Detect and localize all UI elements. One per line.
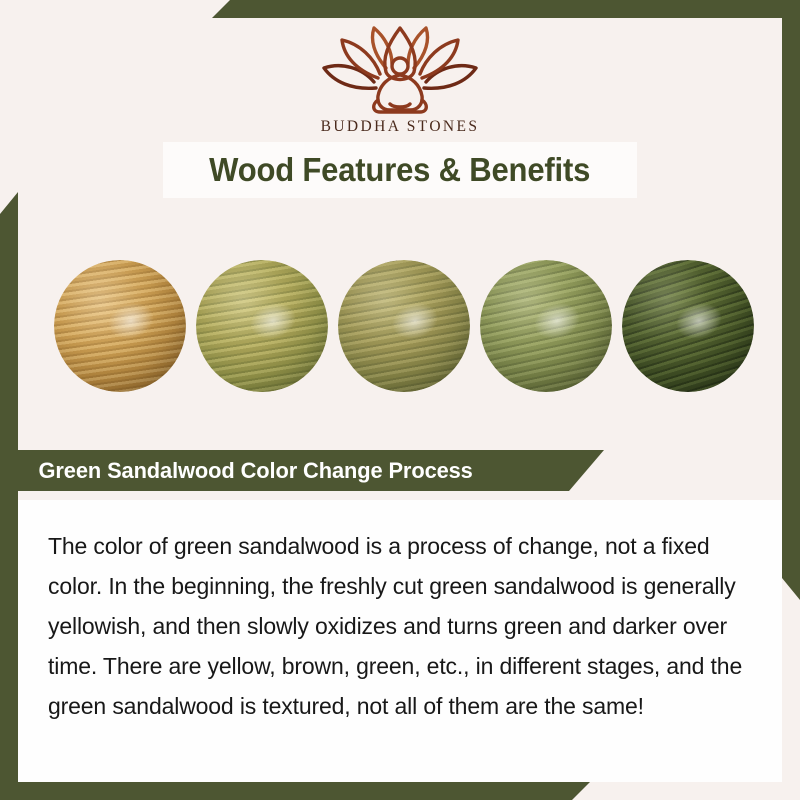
- bead-stage-3: [338, 260, 470, 392]
- bead-stage-2: [196, 260, 328, 392]
- body-paragraph: The color of green sandalwood is a proce…: [48, 526, 756, 726]
- frame-border-top-right: [0, 0, 800, 18]
- frame-border-left: [0, 192, 18, 800]
- brand-name: BUDDHA STONES: [0, 118, 800, 136]
- bead-stage-5: [622, 260, 754, 392]
- body-card: The color of green sandalwood is a proce…: [18, 500, 782, 782]
- frame-border-bottom-left: [0, 782, 800, 800]
- section-banner-title: Green Sandalwood Color Change Process: [25, 458, 473, 484]
- page-title: Wood Features & Benefits: [209, 151, 590, 189]
- title-band: Wood Features & Benefits: [163, 142, 637, 198]
- bead-stage-1: [54, 260, 186, 392]
- bead-progression-row: [54, 258, 754, 394]
- bead-stage-4: [480, 260, 612, 392]
- lotus-meditation-figure-icon: [316, 22, 484, 114]
- brand-block: BUDDHA STONES: [0, 22, 800, 136]
- infographic-canvas: BUDDHA STONES Wood Features & Benefits: [0, 0, 800, 800]
- section-banner: Green Sandalwood Color Change Process: [18, 450, 604, 491]
